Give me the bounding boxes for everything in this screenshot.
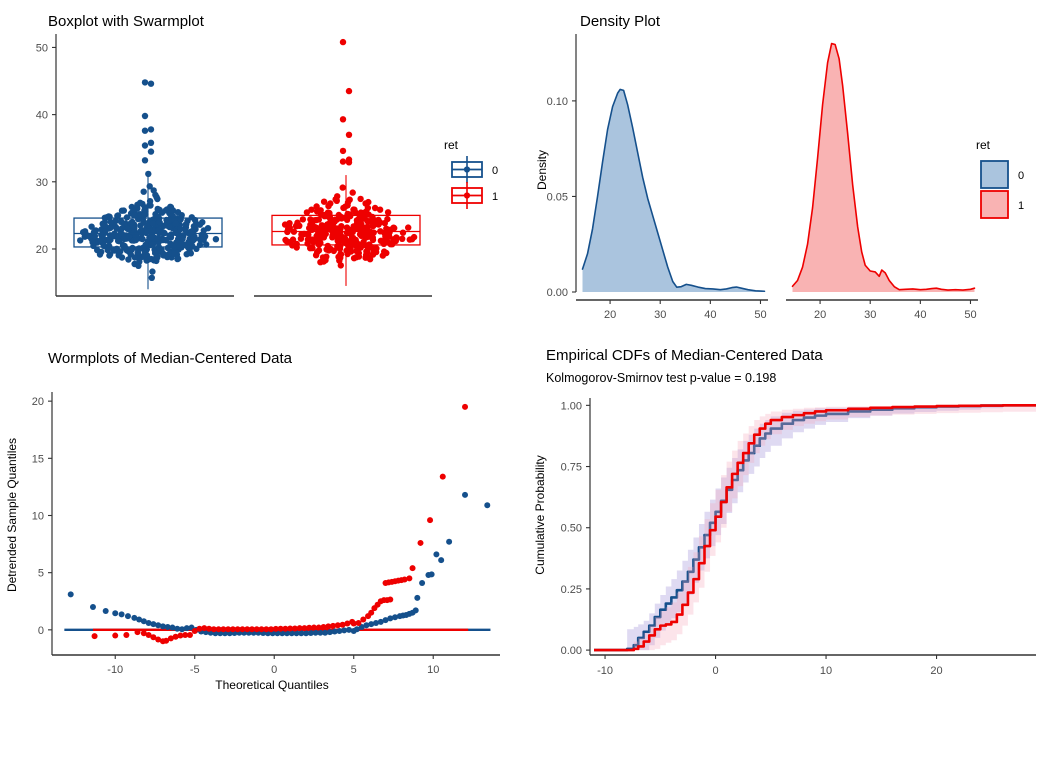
svg-text:30: 30: [36, 177, 48, 189]
boxplot-svg: Boxplot with Swarmplot 20304050 ret 01: [0, 0, 528, 330]
svg-text:0.75: 0.75: [561, 462, 582, 474]
density-plot-area: [583, 44, 975, 292]
boxplot-title: Boxplot with Swarmplot: [48, 13, 205, 30]
svg-text:0.25: 0.25: [561, 584, 582, 596]
panel-cdf: Empirical CDFs of Median-Centered Data K…: [528, 330, 1056, 768]
svg-text:20: 20: [604, 309, 616, 321]
density-legend: ret 01: [976, 138, 1024, 218]
svg-text:0.10: 0.10: [547, 96, 568, 108]
cdf-line-0: [594, 405, 1036, 650]
filled-square-swatch: [981, 191, 1008, 218]
legend-label: 1: [492, 191, 498, 203]
panel-wormplot: Wormplots of Median-Centered Data Detren…: [0, 330, 528, 768]
boxplot-legend-title: ret: [444, 138, 459, 152]
svg-text:20: 20: [36, 244, 48, 256]
svg-text:1.00: 1.00: [561, 400, 582, 412]
svg-text:50: 50: [36, 42, 48, 54]
legend-label: 1: [1018, 200, 1024, 212]
panel-boxplot-swarmplot: Boxplot with Swarmplot 20304050 ret 01: [0, 0, 528, 330]
legend-item-ret-0[interactable]: 0: [452, 156, 498, 183]
wormplot-plot-area: [64, 404, 490, 644]
svg-text:40: 40: [704, 309, 716, 321]
density-y-axis-label: Density: [535, 150, 549, 190]
density-svg: Density Plot Density 0.000.050.102030405…: [528, 0, 1056, 330]
legend-label: 0: [1018, 170, 1024, 182]
wormplot-svg: Wormplots of Median-Centered Data Detren…: [0, 330, 528, 768]
svg-text:-5: -5: [190, 664, 200, 676]
density-series-1: [793, 44, 975, 292]
svg-text:50: 50: [754, 309, 766, 321]
cdf-svg: Empirical CDFs of Median-Centered Data K…: [528, 330, 1056, 768]
legend-label: 0: [492, 165, 498, 177]
svg-text:40: 40: [914, 309, 926, 321]
cdf-subtitle: Kolmogorov-Smirnov test p-value = 0.198: [546, 371, 776, 385]
wormplot-y-axis-label: Detrended Sample Quantiles: [5, 438, 19, 592]
cdf-y-axis-label: Cumulative Probability: [533, 455, 547, 574]
cdf-series-0: [594, 405, 1036, 650]
panel-density: Density Plot Density 0.000.050.102030405…: [528, 0, 1056, 330]
worm-series-1: [92, 404, 468, 644]
svg-text:40: 40: [36, 110, 48, 122]
svg-text:15: 15: [32, 453, 44, 465]
svg-text:-10: -10: [597, 665, 613, 677]
svg-text:0.05: 0.05: [547, 191, 568, 203]
legend-item-ret-1[interactable]: 1: [452, 182, 498, 209]
svg-text:0.00: 0.00: [547, 287, 568, 299]
figure-canvas: Boxplot with Swarmplot 20304050 ret 01 D…: [0, 0, 1056, 768]
legend-item-ret-1[interactable]: 1: [981, 191, 1024, 218]
svg-text:20: 20: [930, 665, 942, 677]
filled-square-swatch: [981, 161, 1008, 188]
svg-text:5: 5: [38, 568, 44, 580]
svg-text:5: 5: [351, 664, 357, 676]
legend-item-ret-0[interactable]: 0: [981, 161, 1024, 188]
density-title: Density Plot: [580, 13, 661, 30]
svg-text:50: 50: [964, 309, 976, 321]
svg-text:0: 0: [712, 665, 718, 677]
swarm-group-1: [282, 39, 417, 269]
svg-text:30: 30: [654, 309, 666, 321]
density-series-0: [583, 89, 765, 292]
svg-text:20: 20: [32, 396, 44, 408]
boxplot-legend: ret 01: [444, 138, 498, 209]
svg-text:30: 30: [864, 309, 876, 321]
svg-text:0: 0: [38, 625, 44, 637]
svg-text:0: 0: [271, 664, 277, 676]
svg-text:10: 10: [820, 665, 832, 677]
cdf-title: Empirical CDFs of Median-Centered Data: [546, 347, 823, 364]
svg-text:-10: -10: [107, 664, 123, 676]
wormplot-x-axis-label: Theoretical Quantiles: [215, 678, 328, 692]
worm-series-0: [68, 492, 491, 636]
density-legend-title: ret: [976, 138, 991, 152]
svg-text:10: 10: [32, 510, 44, 522]
svg-text:0.50: 0.50: [561, 523, 582, 535]
boxplot-plot-area: [74, 39, 420, 289]
cdf-plot-area: [594, 405, 1036, 650]
svg-text:20: 20: [814, 309, 826, 321]
wormplot-title: Wormplots of Median-Centered Data: [48, 350, 293, 367]
svg-text:10: 10: [427, 664, 439, 676]
svg-text:0.00: 0.00: [561, 645, 582, 657]
